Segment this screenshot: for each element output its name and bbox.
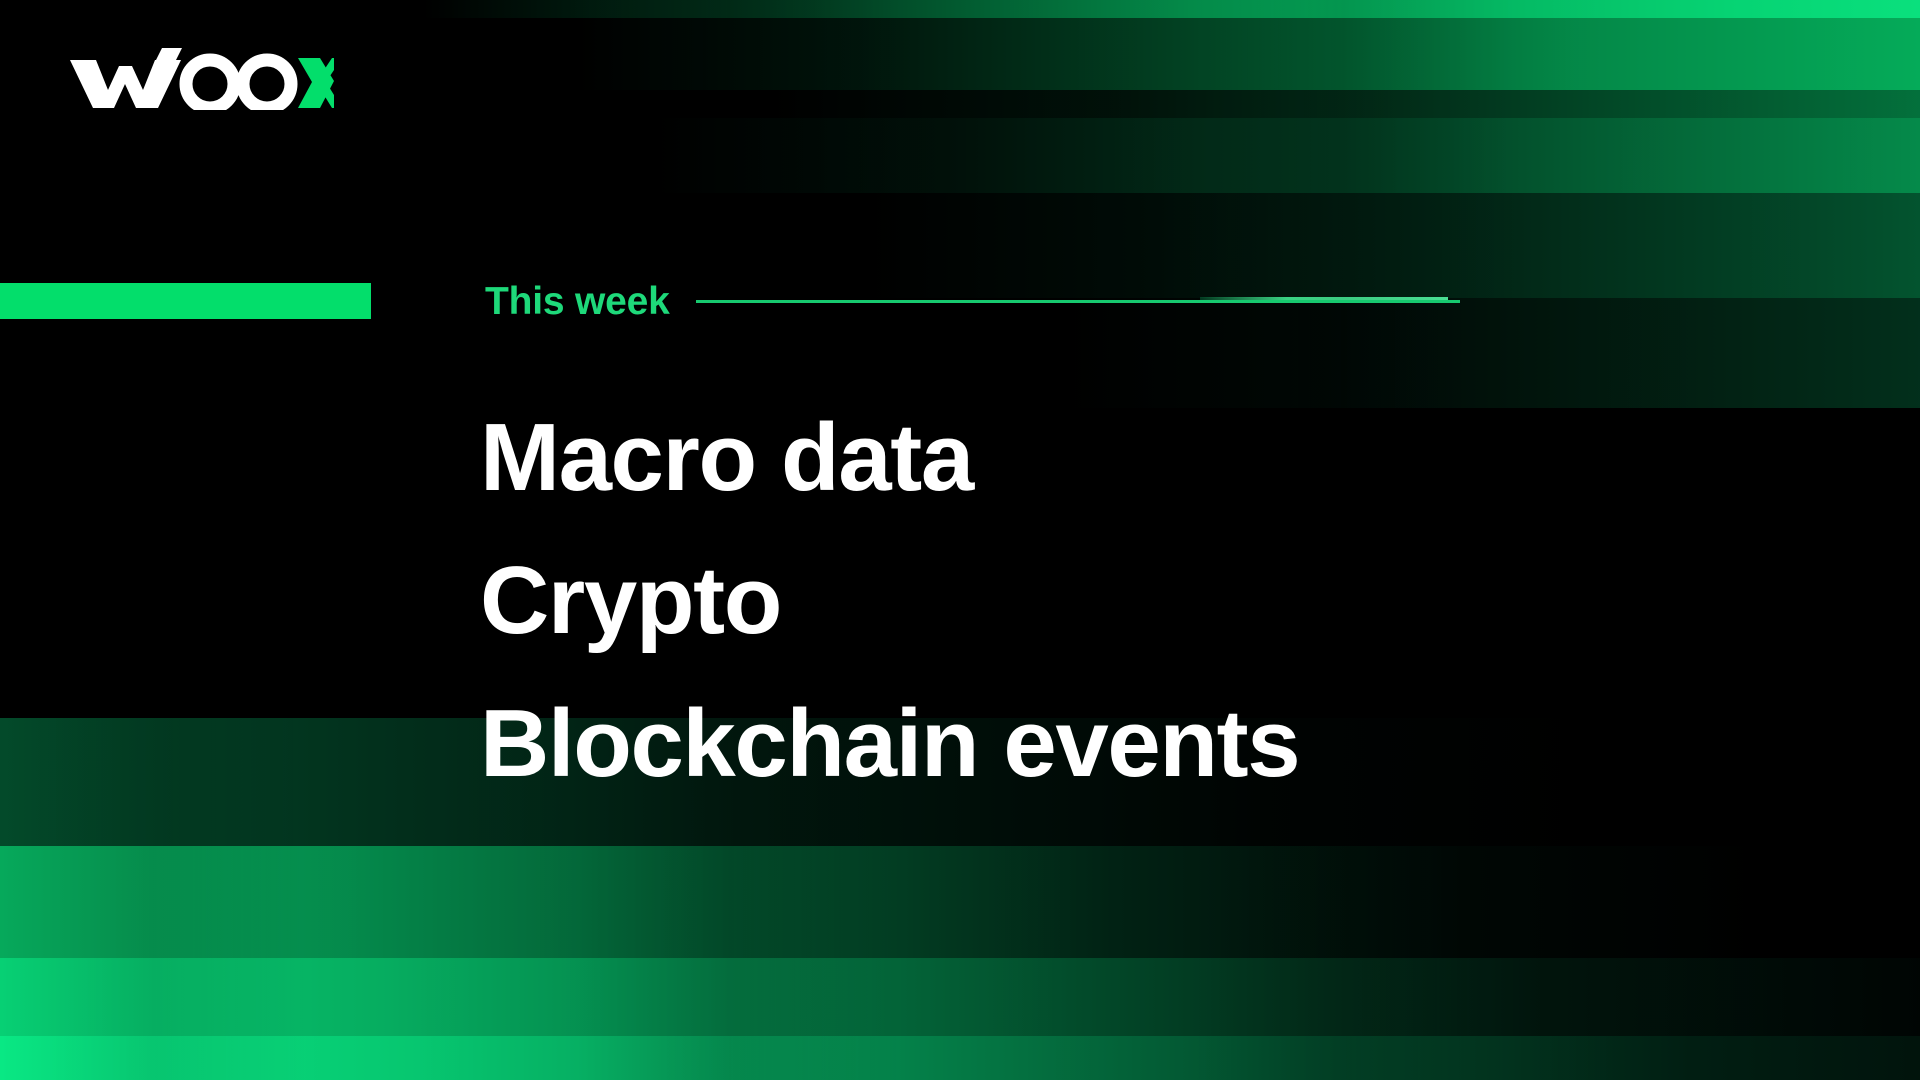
green-streak-bottom-2 xyxy=(0,846,1920,958)
headline-line-3: Blockchain events xyxy=(480,672,1299,815)
woox-logo[interactable] xyxy=(70,48,334,110)
green-streak-top-1 xyxy=(0,0,1920,18)
eyebrow-divider-rule xyxy=(696,300,1460,303)
eyebrow-accent-bar xyxy=(0,283,371,319)
headline-block: Macro data Crypto Blockchain events xyxy=(480,386,1299,815)
headline-line-2: Crypto xyxy=(480,529,1299,672)
green-streak-bottom-3 xyxy=(0,958,1920,1036)
eyebrow-row: This week xyxy=(0,283,1460,319)
headline-line-1: Macro data xyxy=(480,386,1299,529)
promo-banner: This week Macro data Crypto Blockchain e… xyxy=(0,0,1920,1080)
eyebrow-label: This week xyxy=(485,282,670,321)
woox-logo-icon xyxy=(70,48,334,110)
green-streak-bottom-4 xyxy=(0,1036,1920,1080)
green-streak-top-4 xyxy=(0,118,1920,193)
